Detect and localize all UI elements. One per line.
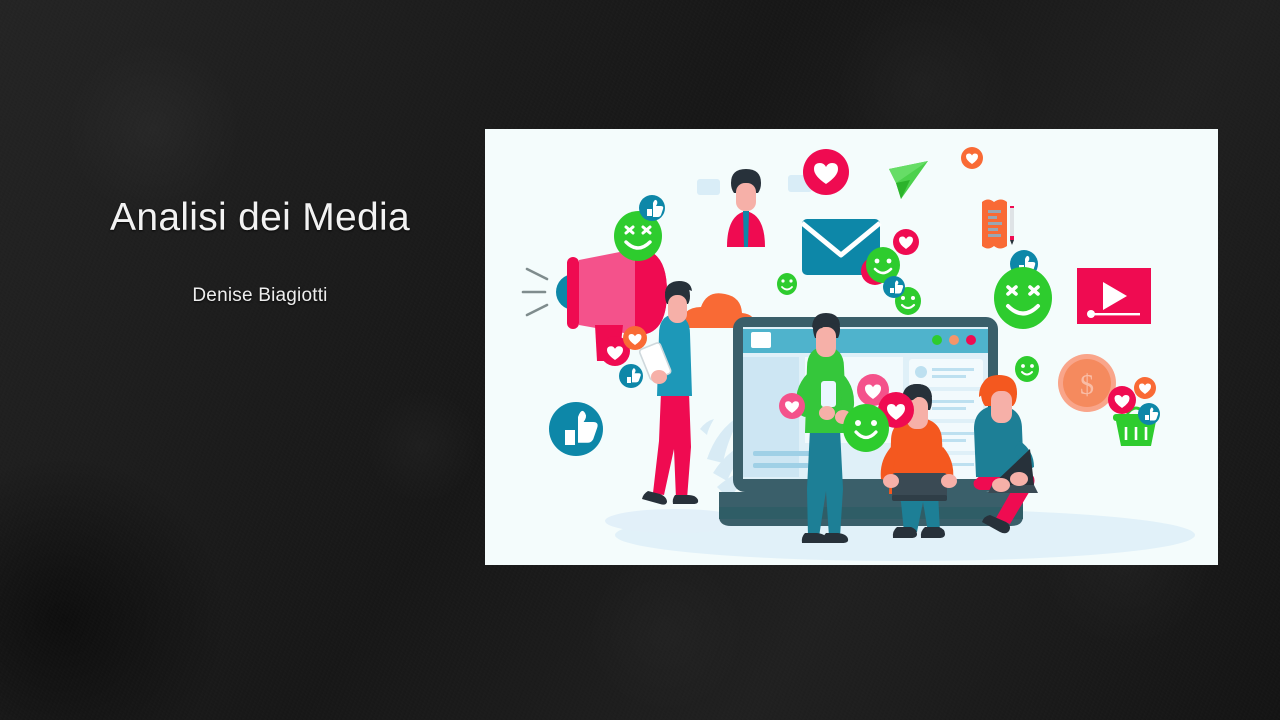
heart-badge-icon: [1134, 377, 1156, 399]
svg-text:$: $: [1080, 370, 1094, 401]
illustration-image: $: [485, 129, 1218, 565]
thumbs-up-badge-icon: [549, 402, 603, 456]
heart-badge-icon: [803, 149, 849, 195]
heart-badge-icon: [779, 393, 805, 419]
smiley-icon: [843, 404, 889, 452]
page-title: Analisi dei Media: [60, 196, 460, 241]
title-block: Analisi dei Media Denise Biagiotti: [60, 196, 460, 307]
slide-subtitle: Denise Biagiotti: [60, 285, 460, 307]
smiley-icon: [1015, 356, 1039, 382]
social-media-analytics-illustration: $: [485, 129, 1218, 565]
thumbs-up-badge-icon: [883, 276, 905, 298]
smiley-icon: [994, 267, 1052, 329]
heart-badge-icon: [623, 326, 647, 350]
thumbs-up-badge-icon: [619, 364, 643, 388]
smiley-icon: [777, 273, 797, 295]
thumbs-up-badge-icon: [639, 195, 665, 221]
pencil-icon: [1010, 206, 1014, 245]
thumbs-up-badge-icon: [1138, 403, 1160, 425]
heart-badge-icon: [961, 147, 983, 169]
video-player-icon: [1077, 268, 1151, 324]
heart-badge-icon: [893, 229, 919, 255]
dollar-coin-icon: $: [1058, 354, 1116, 412]
heart-badge-icon: [1108, 386, 1136, 414]
presentation-slide: Analisi dei Media Denise Biagiotti: [0, 0, 1280, 720]
